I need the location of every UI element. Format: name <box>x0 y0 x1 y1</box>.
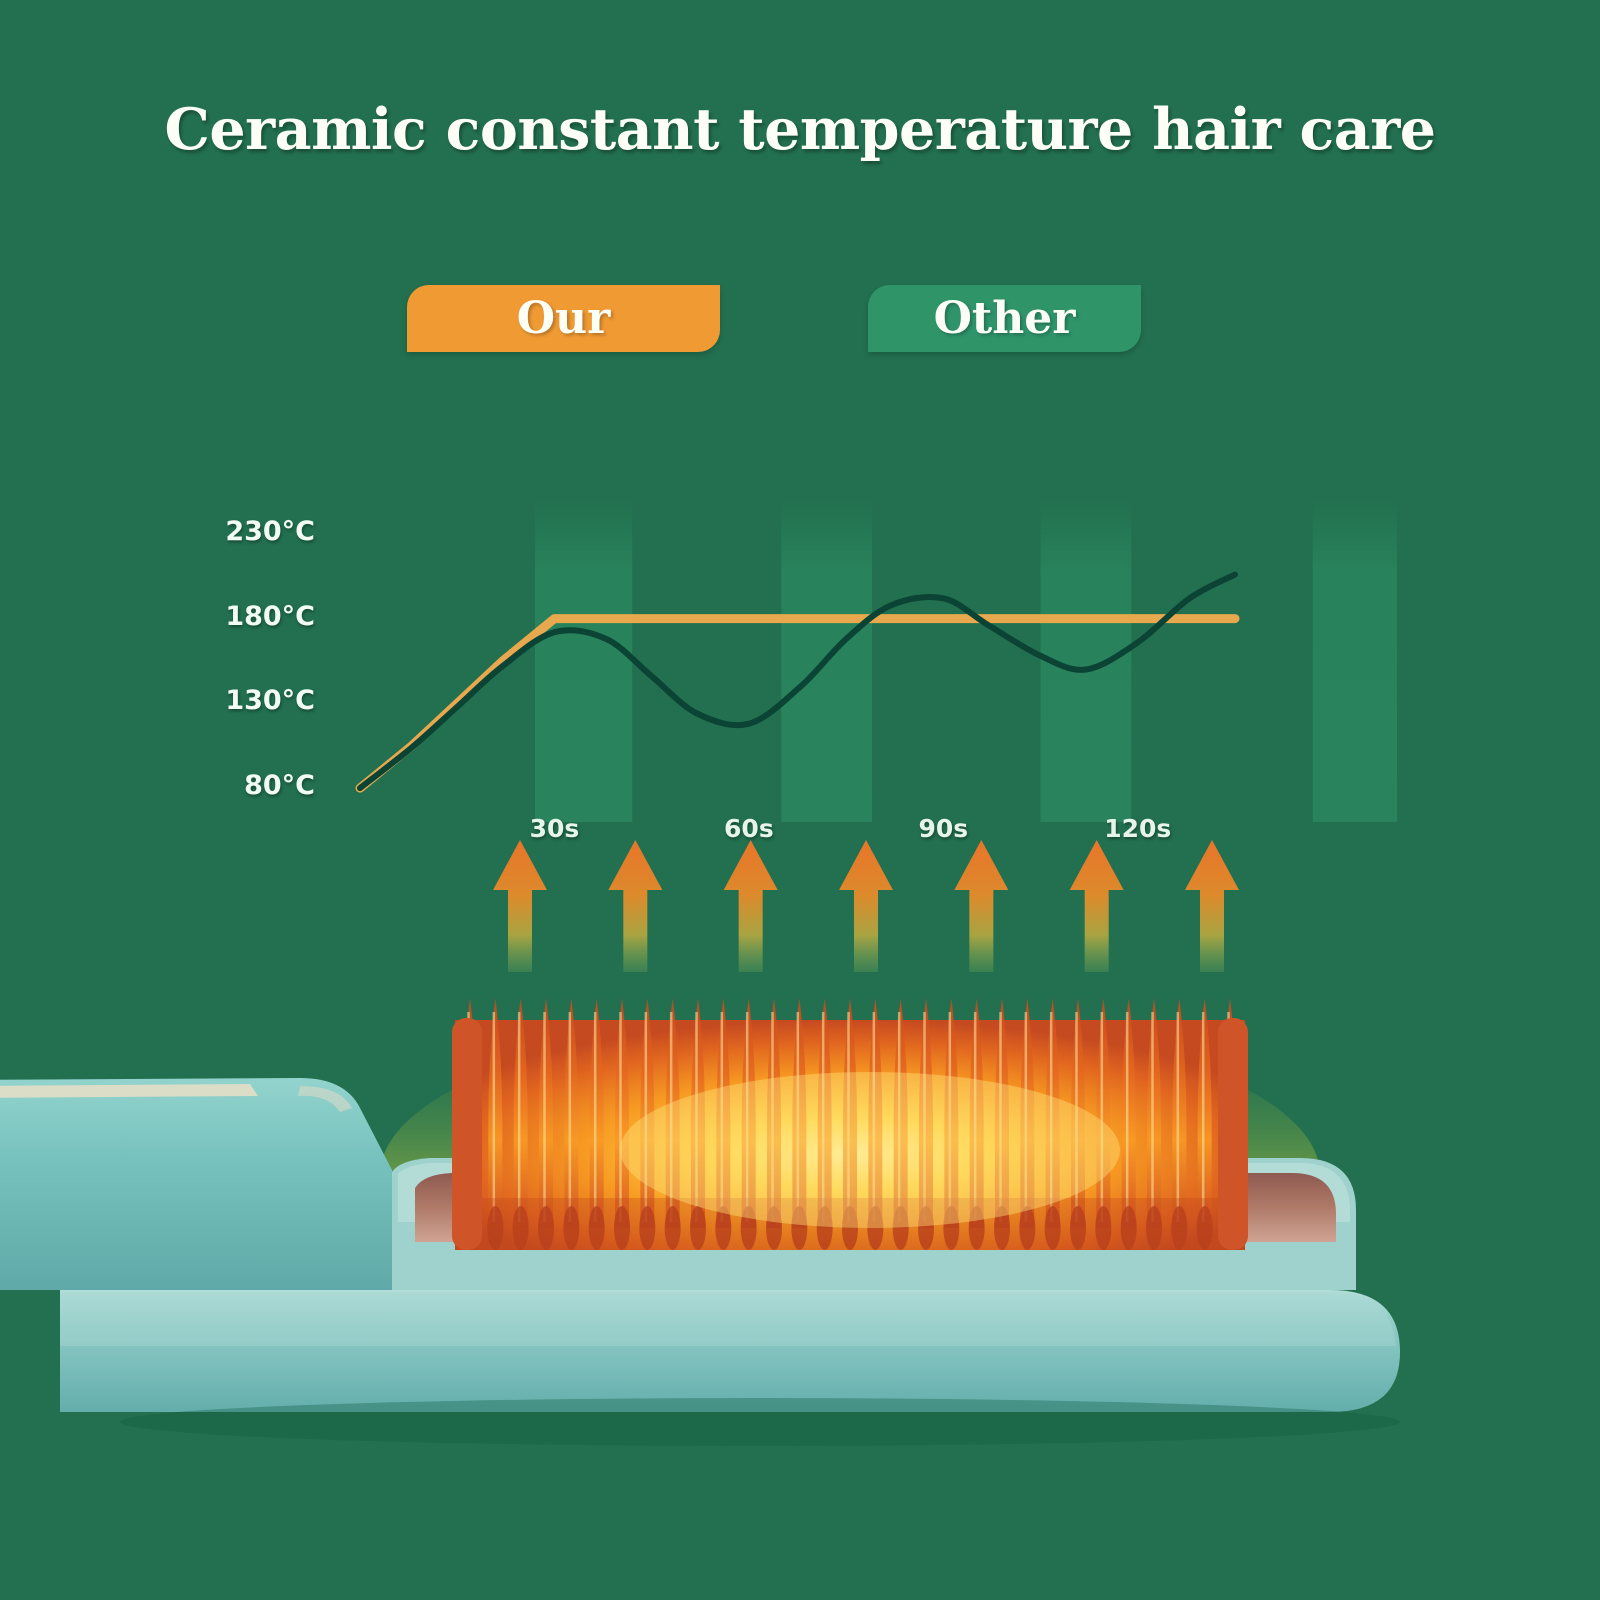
comb-tooth-base <box>1070 1206 1086 1250</box>
comb-tooth-base <box>1146 1206 1162 1250</box>
comb-tooth-base <box>1197 1206 1213 1250</box>
base-highlight <box>60 1292 1396 1346</box>
chart-band <box>1313 500 1397 822</box>
chart-band <box>535 500 632 822</box>
comb-tooth-base <box>563 1206 579 1250</box>
arrow-up-icon <box>608 840 662 972</box>
y-axis-tick-label: 80°C <box>244 770 315 801</box>
arrow-up-icon <box>1185 840 1239 972</box>
chart-bands <box>535 500 1397 822</box>
comb-tooth-base <box>690 1206 706 1250</box>
comb-tooth-base <box>1095 1206 1111 1250</box>
comb-tooth-base <box>589 1206 605 1250</box>
comb-tooth-base <box>1121 1206 1137 1250</box>
product-image <box>0 960 1600 1600</box>
arrow-up-icon <box>493 840 547 972</box>
arrow-up-icon <box>954 840 1008 972</box>
floor-shadow <box>120 1398 1400 1446</box>
comb-tooth-base <box>639 1206 655 1250</box>
comb-tooth-base <box>665 1206 681 1250</box>
comb-cap-right <box>1218 1018 1248 1250</box>
chart-series <box>360 575 1235 789</box>
arrow-up-icon <box>839 840 893 972</box>
heat-arrows <box>0 832 1600 972</box>
y-axis-labels: 230°C180°C130°C80°C <box>150 500 315 830</box>
comb-tooth-base <box>1171 1206 1187 1250</box>
chart-line-other <box>360 575 1235 789</box>
chart-line-our <box>360 619 1235 789</box>
comb-tooth-base <box>538 1206 554 1250</box>
page-title: Ceramic constant temperature hair care <box>0 96 1600 163</box>
device-handle <box>0 1078 392 1290</box>
arrow-up-icon <box>1070 840 1124 972</box>
infographic-canvas: Ceramic constant temperature hair care O… <box>0 0 1600 1600</box>
handle-trim <box>0 1084 258 1098</box>
comb-cap-left <box>452 1018 482 1250</box>
legend-badge-other-label: Other <box>934 293 1076 344</box>
y-axis-tick-label: 230°C <box>225 516 315 547</box>
legend-badge-our-label: Our <box>517 293 611 344</box>
comb-tooth-base <box>513 1206 529 1250</box>
legend-badge-other[interactable]: Other <box>868 285 1141 352</box>
chart-band <box>1041 500 1132 822</box>
chart-band <box>781 500 872 822</box>
comb-tooth-base <box>487 1206 503 1250</box>
comb-tooth-base <box>1045 1206 1061 1250</box>
arrow-up-icon <box>724 840 778 972</box>
legend-badge-our[interactable]: Our <box>407 285 720 352</box>
comb-core-glow <box>620 1072 1120 1228</box>
y-axis-tick-label: 180°C <box>225 601 315 632</box>
comb-tooth-base <box>614 1206 630 1250</box>
y-axis-tick-label: 130°C <box>225 685 315 716</box>
comb-tooth-base <box>1019 1206 1035 1250</box>
